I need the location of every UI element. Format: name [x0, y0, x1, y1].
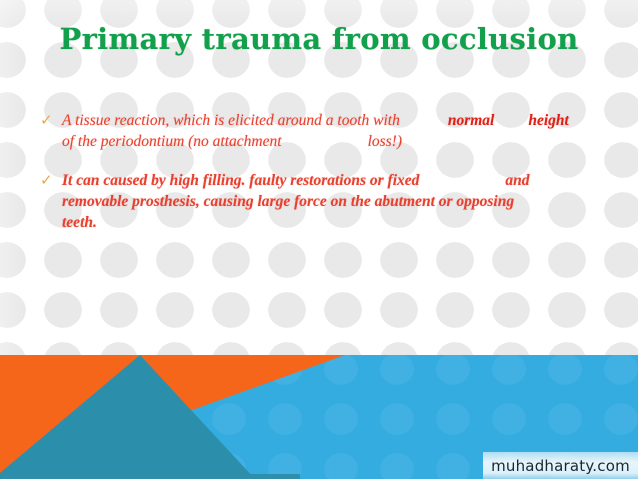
slide: Primary trauma from occlusion ✓ A tissue…: [0, 0, 638, 479]
bullet-1-line2-part2: loss!): [368, 133, 402, 150]
bullet-list: ✓ A tissue reaction, which is elicited a…: [36, 110, 616, 251]
bullet-1-highlight-2: height: [528, 112, 568, 129]
bullet-1-line1-part1: A tissue reaction, which is elicited aro…: [62, 112, 400, 129]
check-mark-icon: ✓: [40, 111, 53, 130]
check-mark-icon: ✓: [40, 171, 53, 190]
bullet-2-line2: removable prosthesis, causing large forc…: [62, 193, 514, 210]
bullet-1-text: A tissue reaction, which is elicited aro…: [62, 110, 616, 152]
watermark-badge: muhadharaty.com: [483, 452, 638, 479]
bullet-2-line3: teeth.: [62, 214, 97, 231]
list-item: ✓ A tissue reaction, which is elicited a…: [36, 110, 616, 152]
bullet-1-line2-part1: of the periodontium (no attachment: [62, 133, 282, 150]
bullet-2-text: It can caused by high filling. faulty re…: [62, 170, 616, 233]
page-title: Primary trauma from occlusion: [0, 22, 638, 56]
footer-bottom-accent: [0, 474, 300, 479]
list-item: ✓ It can caused by high filling. faulty …: [36, 170, 616, 233]
watermark-text: muhadharaty.com: [491, 457, 630, 475]
bullet-2-line1-part1: It can caused by high filling. faulty re…: [62, 172, 419, 189]
bullet-2-line1-part2: and: [505, 172, 529, 189]
bullet-1-highlight-1: normal: [448, 112, 495, 129]
